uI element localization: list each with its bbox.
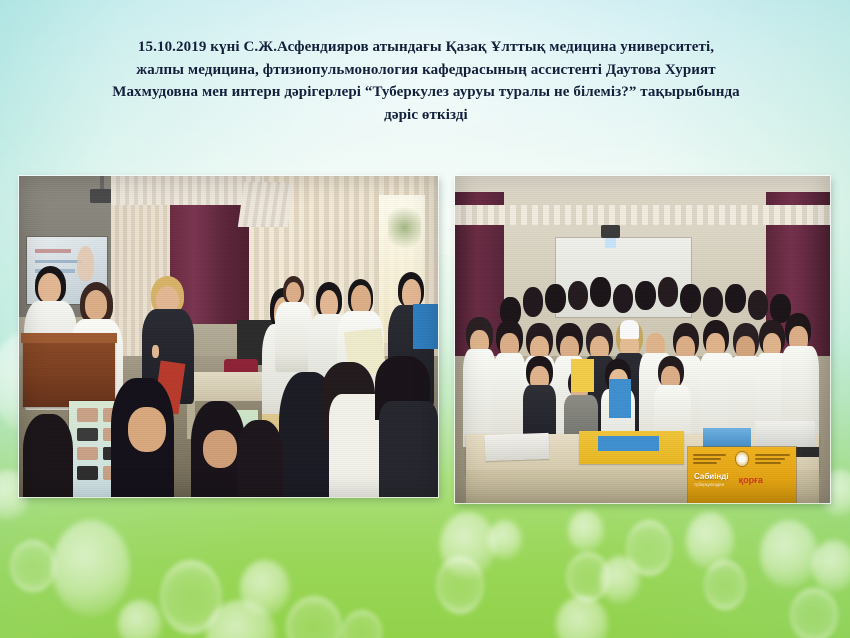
projector-icon <box>601 225 620 238</box>
title-line-2: жалпы медицина, фтизиопульмонология кафе… <box>56 59 796 82</box>
title-line-1: 15.10.2019 күні С.Ж.Асфендияров атындағы… <box>56 36 796 59</box>
group-photo: Сабиінді қорға туберкулезден <box>455 176 830 503</box>
banner-sub-text: туберкулезден <box>694 482 724 487</box>
person <box>275 276 313 372</box>
title-line-3: Махмудовна мен интерн дәрігерлері “Тубер… <box>56 81 796 104</box>
title-line-4: дәріс өткізді <box>56 104 796 127</box>
lecture-photo <box>19 176 438 497</box>
banner-accent-text: қорға <box>739 475 763 485</box>
university-seal-icon <box>736 452 748 466</box>
slide-title: 15.10.2019 күні С.Ж.Асфендияров атындағы… <box>56 36 796 126</box>
tb-awareness-banner: Сабиінді қорға туберкулезден <box>688 447 797 503</box>
presentation-slide: 15.10.2019 күні С.Ж.Асфендияров атындағы… <box>0 0 850 638</box>
banner-main-text: Сабиінді <box>694 472 729 481</box>
